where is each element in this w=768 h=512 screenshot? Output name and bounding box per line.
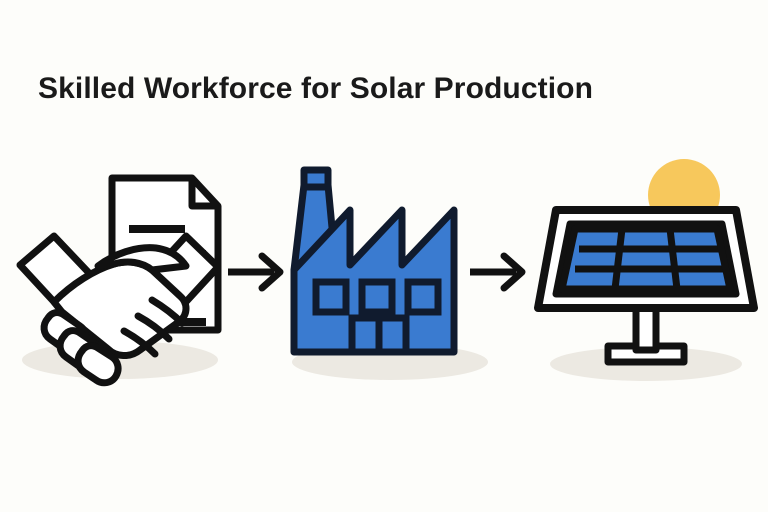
factory-door xyxy=(352,318,406,352)
page-title: Skilled Workforce for Solar Production xyxy=(38,72,593,106)
panel-cells xyxy=(562,229,730,289)
flow-step-solar xyxy=(528,150,768,395)
arrow-right-glyph xyxy=(464,246,536,298)
factory-windows xyxy=(316,282,438,312)
process-flow-row xyxy=(0,150,768,395)
handshake-document-icon xyxy=(2,150,242,395)
solar-panel-icon xyxy=(528,150,768,395)
flow-step-agreement xyxy=(2,150,242,395)
arrow-right-icon xyxy=(464,246,536,298)
illustration-canvas: Skilled Workforce for Solar Production xyxy=(0,0,768,512)
